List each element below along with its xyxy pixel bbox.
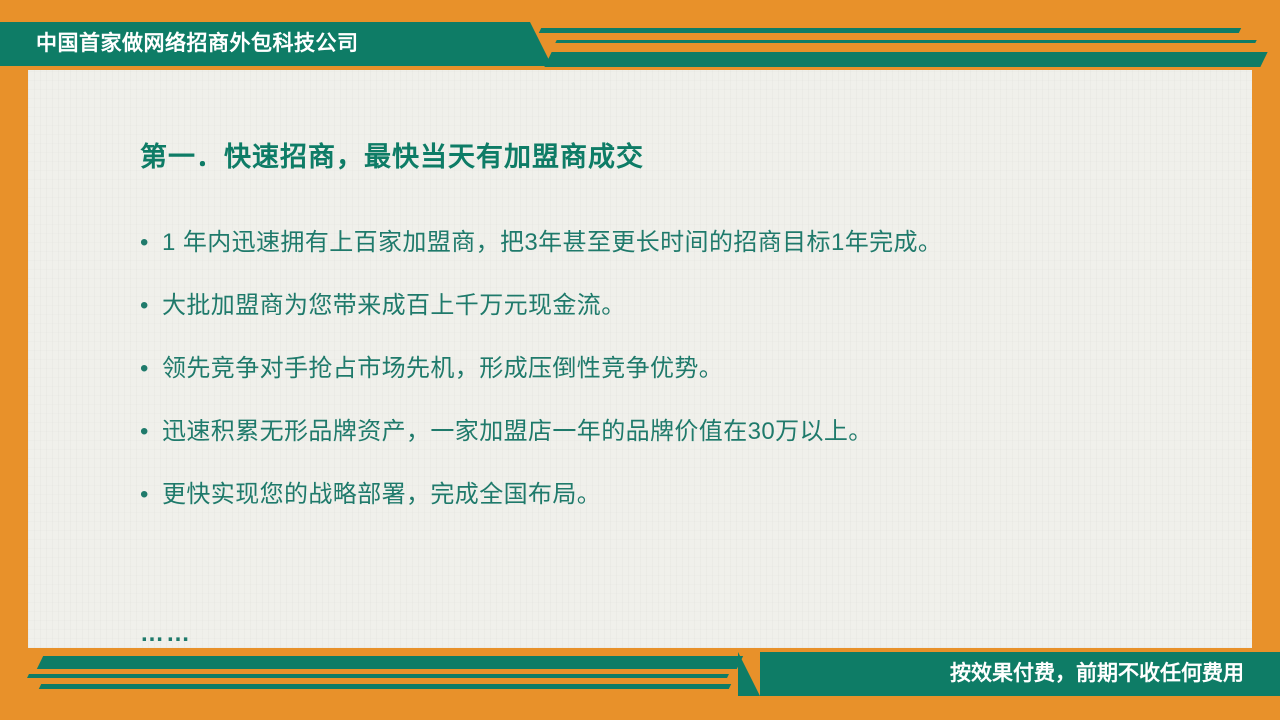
bullet-dot-icon: • [140, 480, 162, 510]
slide-root: 中国首家做网络招商外包科技公司 第一．快速招商，最快当天有加盟商成交 • 1 年… [0, 0, 1280, 720]
list-item-label: 大批加盟商为您带来成百上千万元现金流。 [162, 291, 1210, 321]
list-item-label: 1 年内迅速拥有上百家加盟商，把3年甚至更长时间的招商目标1年完成。 [162, 228, 1210, 258]
list-item: • 大批加盟商为您带来成百上千万元现金流。 [140, 291, 1210, 321]
ellipsis-text: …… [140, 620, 192, 648]
bullet-dot-icon: • [140, 417, 162, 447]
bottom-banner-stripe-1 [37, 656, 743, 669]
top-banner-stripe-1 [539, 28, 1241, 33]
bullet-list: • 1 年内迅速拥有上百家加盟商，把3年甚至更长时间的招商目标1年完成。 • 大… [140, 228, 1210, 543]
bottom-banner-stripe-3 [39, 684, 731, 689]
top-banner: 中国首家做网络招商外包科技公司 [0, 22, 1280, 66]
bullet-dot-icon: • [140, 228, 162, 258]
bullet-dot-icon: • [140, 291, 162, 321]
list-item: • 更快实现您的战略部署，完成全国布局。 [140, 480, 1210, 510]
bottom-banner-title: 按效果付费，前期不收任何费用 [950, 652, 1244, 696]
bottom-banner-stripe-2 [27, 674, 729, 678]
list-item: • 迅速积累无形品牌资产，一家加盟店一年的品牌价值在30万以上。 [140, 417, 1210, 447]
list-item: • 1 年内迅速拥有上百家加盟商，把3年甚至更长时间的招商目标1年完成。 [140, 228, 1210, 258]
list-item-label: 迅速积累无形品牌资产，一家加盟店一年的品牌价值在30万以上。 [162, 417, 1210, 447]
top-banner-stripe-3 [544, 52, 1267, 67]
list-item-label: 领先竞争对手抢占市场先机，形成压倒性竞争优势。 [162, 354, 1210, 384]
list-item-label: 更快实现您的战略部署，完成全国布局。 [162, 480, 1210, 510]
bottom-banner: 按效果付费，前期不收任何费用 [0, 652, 1280, 696]
top-banner-title: 中国首家做网络招商外包科技公司 [36, 22, 359, 66]
bullet-dot-icon: • [140, 354, 162, 384]
top-banner-stripe-2 [555, 40, 1256, 43]
slide-heading: 第一．快速招商，最快当天有加盟商成交 [140, 135, 644, 174]
list-item: • 领先竞争对手抢占市场先机，形成压倒性竞争优势。 [140, 354, 1210, 384]
